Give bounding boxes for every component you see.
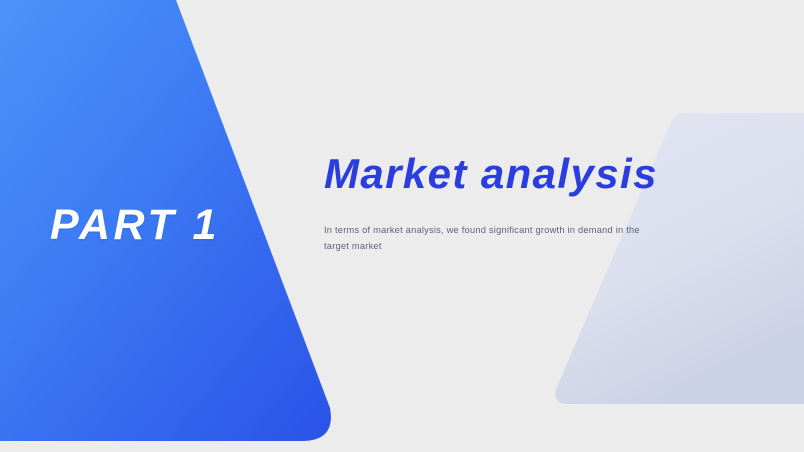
part-label: PART 1 (50, 204, 280, 247)
page-subtitle: In terms of market analysis, we found si… (324, 199, 664, 255)
content-block: Market analysis In terms of market analy… (324, 150, 684, 254)
slide-canvas: PART 1 Market analysis In terms of marke… (0, 0, 804, 452)
page-title: Market analysis (324, 150, 684, 199)
